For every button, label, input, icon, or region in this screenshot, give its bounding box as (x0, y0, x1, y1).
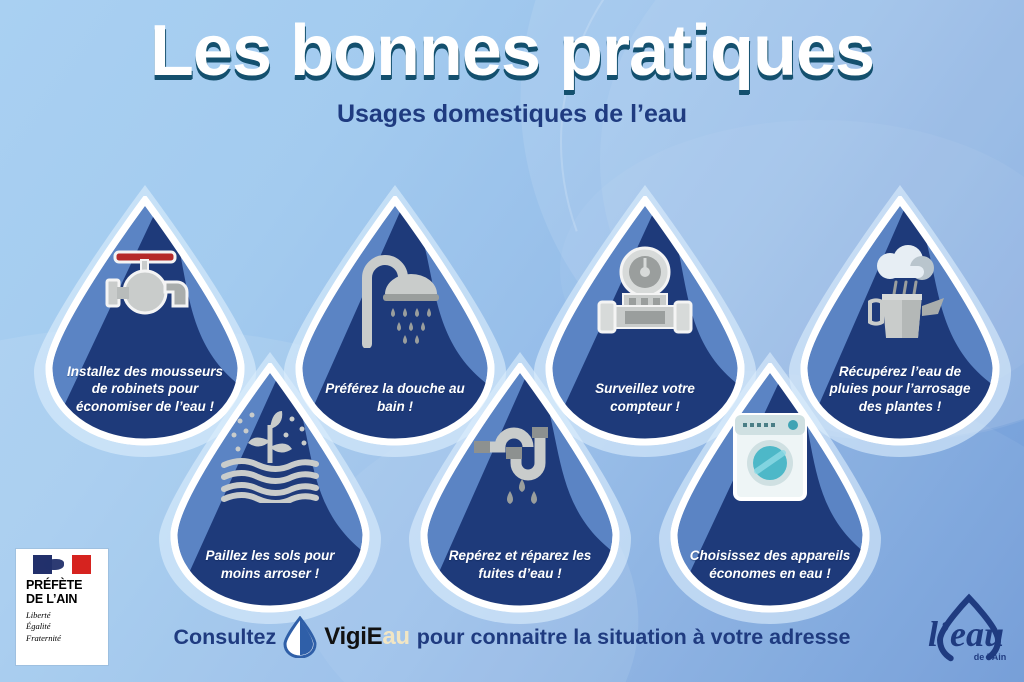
vigieau-dark-part: VigiE (324, 623, 382, 650)
washing-machine-icon (731, 411, 809, 503)
eau-logo-word: l’eau (928, 614, 1004, 654)
footer-before-text: Consultez (174, 625, 277, 650)
vigieau-wordmark[interactable]: VigiEau (324, 623, 410, 651)
infographic-poster: Les bonnes pratiques Usages domestiques … (0, 0, 1024, 682)
cloud-icon (877, 245, 934, 280)
page-title: Les bonnes pratiques (0, 14, 1024, 90)
vigieau-light-part: au (382, 623, 409, 650)
tip-card-appareils[interactable]: Choisissez des appareils économes en eau… (670, 363, 870, 613)
tip-label: Repérez et réparez les fuites d’eau ! (430, 547, 610, 583)
vigieau-droplet-icon[interactable] (283, 616, 317, 658)
tip-card-paillage[interactable]: Paillez les sols pour moins arroser ! (170, 363, 370, 613)
tip-label: Choisissez des appareils économes en eau… (680, 547, 860, 583)
shower-icon (349, 244, 441, 348)
page-subtitle: Usages domestiques de l’eau (0, 100, 1024, 129)
tip-label: Paillez les sols pour moins arroser ! (180, 547, 360, 583)
header: Les bonnes pratiques Usages domestiques … (0, 14, 1024, 129)
plant-mulch-icon (216, 411, 324, 503)
prefecture-line1: PRÉFÈTE (26, 578, 98, 592)
valve-icon (93, 244, 197, 324)
footer-call-to-action: Consultez VigiEau pour connaitre la situ… (0, 616, 1024, 658)
prefecture-line2: DE L’AIN (26, 592, 98, 606)
leau-de-lain-droplet-logo: l’eau de l’Ain (926, 592, 1012, 670)
leaking-pipe-icon (470, 411, 570, 515)
french-flag-icon (33, 555, 91, 574)
footer-after-text: pour connaitre la situation à votre adre… (417, 625, 851, 650)
watering-can-rain-icon (848, 244, 952, 348)
water-meter-icon (593, 244, 697, 340)
eau-logo-sub: de l’Ain (974, 652, 1007, 662)
tip-card-fuites[interactable]: Repérez et réparez les fuites d’eau ! (420, 363, 620, 613)
